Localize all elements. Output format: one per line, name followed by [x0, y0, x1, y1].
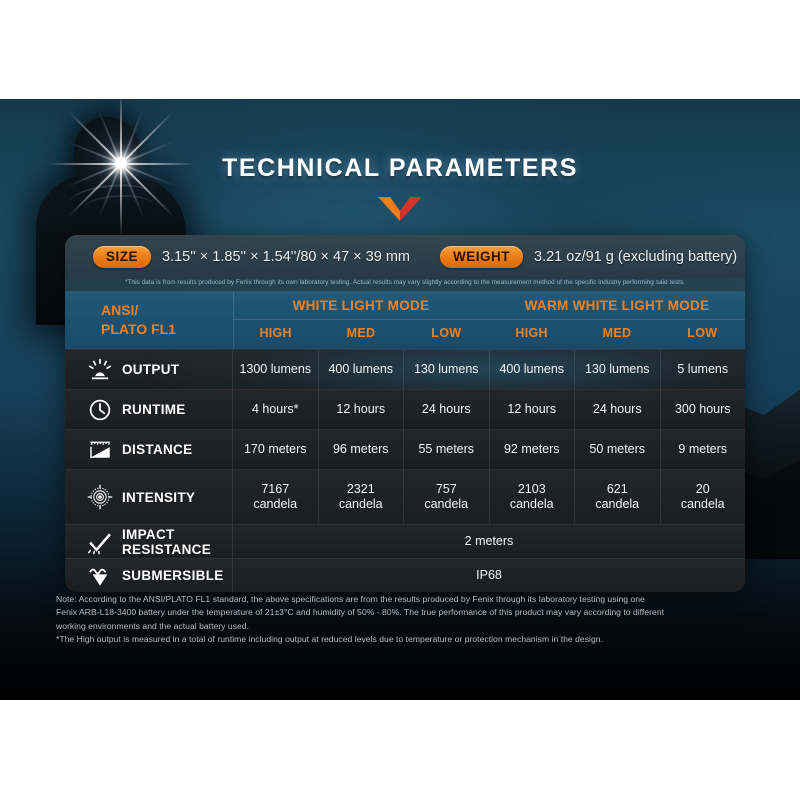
- mode-group-warm-white-light: WARM WHITE LIGHT MODE: [489, 291, 745, 319]
- table-cell: 12 hours: [490, 390, 576, 429]
- table-cell: 12 hours: [319, 390, 405, 429]
- ansi-plato-line1: ANSI/: [101, 301, 233, 320]
- size-badge: SIZE: [93, 246, 151, 268]
- table-cell: 2 meters: [233, 525, 745, 558]
- row-values: 2 meters: [233, 525, 745, 558]
- table-row: INTENSITY7167candela2321candela757candel…: [65, 469, 745, 524]
- table-cell: 130 lumens: [404, 350, 490, 389]
- specs-panel: SIZE 3.15'' × 1.85'' × 1.54''/80 × 47 × …: [65, 235, 745, 592]
- table-cell: 300 hours: [661, 390, 746, 429]
- row-label-output: OUTPUT: [65, 350, 233, 389]
- size-weight-strip: SIZE 3.15'' × 1.85'' × 1.54''/80 × 47 × …: [65, 235, 745, 279]
- table-cell: 7167candela: [233, 470, 319, 524]
- table-header: ANSI/ PLATO FL1 WHITE LIGHT MODE WARM WH…: [65, 291, 745, 349]
- table-cell: 400 lumens: [319, 350, 405, 389]
- table-cell: 4 hours*: [233, 390, 319, 429]
- cell-line-2: candela: [663, 497, 744, 512]
- table-cell: 50 meters: [575, 430, 661, 469]
- ansi-plato-label: ANSI/ PLATO FL1: [65, 291, 233, 349]
- row-label-line1: IMPACT: [122, 527, 211, 542]
- cell-line-1: 2321: [321, 482, 402, 497]
- row-values: 7167candela2321candela757candela2103cand…: [233, 470, 745, 524]
- table-cell: 757candela: [404, 470, 490, 524]
- cell-line-1: 4 hours*: [235, 402, 316, 417]
- target-intensity-icon: [87, 484, 113, 510]
- beam-distance-icon: [87, 437, 113, 463]
- row-label-text: IMPACTRESISTANCE: [122, 527, 211, 557]
- table-cell: 96 meters: [319, 430, 405, 469]
- table-cell: 2103candela: [490, 470, 576, 524]
- cell-line-1: 24 hours: [406, 402, 487, 417]
- cell-line-1: 621: [577, 482, 658, 497]
- table-cell: 55 meters: [404, 430, 490, 469]
- cell-line-1: 9 meters: [663, 442, 744, 457]
- mode-group-row: WHITE LIGHT MODE WARM WHITE LIGHT MODE: [233, 291, 745, 320]
- table-body: OUTPUT1300 lumens400 lumens130 lumens400…: [65, 349, 745, 592]
- table-cell: 92 meters: [490, 430, 576, 469]
- cell-line-1: 12 hours: [492, 402, 573, 417]
- table-row: OUTPUT1300 lumens400 lumens130 lumens400…: [65, 349, 745, 389]
- header-divider: [233, 291, 234, 349]
- cell-line-1: 96 meters: [321, 442, 402, 457]
- table-cell: 170 meters: [233, 430, 319, 469]
- cell-line-1: 757: [406, 482, 487, 497]
- cell-line-1: 300 hours: [663, 402, 744, 417]
- table-cell: 5 lumens: [661, 350, 746, 389]
- note-line-4: *The High output is measured in a total …: [56, 633, 746, 646]
- level-white-high: HIGH: [233, 320, 318, 347]
- level-white-med: MED: [318, 320, 403, 347]
- cell-line-1: 92 meters: [492, 442, 573, 457]
- table-cell: 1300 lumens: [233, 350, 319, 389]
- cell-line-1: 2103: [492, 482, 573, 497]
- ansi-plato-line2: PLATO FL1: [101, 320, 233, 339]
- cell-line-1: 400 lumens: [321, 362, 402, 377]
- row-label-line2: RESISTANCE: [122, 542, 211, 557]
- weight-value: 3.21 oz/91 g (excluding battery): [534, 249, 737, 265]
- note-line-3: working environments and the actual batt…: [56, 620, 746, 633]
- row-label-text: DISTANCE: [122, 442, 192, 457]
- row-label-distance: DISTANCE: [65, 430, 233, 469]
- impact-check-icon: [87, 529, 113, 555]
- table-row: DISTANCE170 meters96 meters55 meters92 m…: [65, 429, 745, 469]
- row-label-intensity: INTENSITY: [65, 470, 233, 524]
- cell-line-1: 24 hours: [577, 402, 658, 417]
- cell-line-1: 5 lumens: [663, 362, 744, 377]
- footer-note: Note: According to the ANSI/PLATO FL1 st…: [56, 593, 746, 647]
- row-label-submersible: SUBMERSIBLE: [65, 559, 233, 592]
- cell-line-2: candela: [577, 497, 658, 512]
- sunburst-icon: [87, 357, 113, 383]
- row-label-text: OUTPUT: [122, 362, 179, 377]
- mode-level-row: HIGH MED LOW HIGH MED LOW: [233, 320, 745, 347]
- cell-line-1: 50 meters: [577, 442, 658, 457]
- note-line-2: Fenix ARB-L18-3400 battery under the tem…: [56, 606, 746, 619]
- table-cell: IP68: [233, 559, 745, 592]
- table-cell: 24 hours: [575, 390, 661, 429]
- cell-line-2: candela: [492, 497, 573, 512]
- cell-line-1: 12 hours: [321, 402, 402, 417]
- product-spec-banner: TECHNICAL PARAMETERS SIZE 3.15'' × 1.85'…: [0, 99, 800, 700]
- size-value: 3.15'' × 1.85'' × 1.54''/80 × 47 × 39 mm: [162, 249, 410, 265]
- cell-line-1: 20: [663, 482, 744, 497]
- row-label-impact: IMPACTRESISTANCE: [65, 525, 233, 558]
- cell-line-2: candela: [235, 497, 316, 512]
- cell-line-2: candela: [406, 497, 487, 512]
- cell-line-1: 170 meters: [235, 442, 316, 457]
- row-values: 1300 lumens400 lumens130 lumens400 lumen…: [233, 350, 745, 389]
- note-line-1: Note: According to the ANSI/PLATO FL1 st…: [56, 593, 746, 606]
- table-cell: 20candela: [661, 470, 746, 524]
- chevron-down-icon: [0, 197, 800, 223]
- table-cell: 621candela: [575, 470, 661, 524]
- cell-line-1: 1300 lumens: [235, 362, 316, 377]
- weight-badge: WEIGHT: [440, 246, 523, 268]
- level-warm-low: LOW: [660, 320, 745, 347]
- cell-line-2: candela: [321, 497, 402, 512]
- row-label-text: SUBMERSIBLE: [122, 568, 224, 583]
- water-submersible-icon: [87, 563, 113, 589]
- row-label-text: RUNTIME: [122, 402, 186, 417]
- level-warm-high: HIGH: [489, 320, 574, 347]
- row-values: 170 meters96 meters55 meters92 meters50 …: [233, 430, 745, 469]
- row-label-runtime: RUNTIME: [65, 390, 233, 429]
- table-row: SUBMERSIBLEIP68: [65, 558, 745, 592]
- level-warm-med: MED: [574, 320, 659, 347]
- row-values: 4 hours*12 hours24 hours12 hours24 hours…: [233, 390, 745, 429]
- table-row: RUNTIME4 hours*12 hours24 hours12 hours2…: [65, 389, 745, 429]
- table-cell: 400 lumens: [490, 350, 576, 389]
- table-cell: 9 meters: [661, 430, 746, 469]
- table-cell: 130 lumens: [575, 350, 661, 389]
- row-values: IP68: [233, 559, 745, 592]
- table-row: IMPACTRESISTANCE2 meters: [65, 524, 745, 558]
- table-cell: 2321candela: [319, 470, 405, 524]
- row-label-text: INTENSITY: [122, 490, 195, 505]
- table-cell: 24 hours: [404, 390, 490, 429]
- cell-line-1: 130 lumens: [577, 362, 658, 377]
- cell-line-1: 130 lumens: [406, 362, 487, 377]
- testing-disclaimer: *This data is from results produced by F…: [65, 279, 745, 291]
- page-title: TECHNICAL PARAMETERS: [0, 154, 800, 183]
- mode-group-white-light: WHITE LIGHT MODE: [233, 291, 489, 319]
- cell-line-1: 55 meters: [406, 442, 487, 457]
- cell-line-1: 400 lumens: [492, 362, 573, 377]
- clock-icon: [87, 397, 113, 423]
- cell-line-1: 7167: [235, 482, 316, 497]
- level-white-low: LOW: [404, 320, 489, 347]
